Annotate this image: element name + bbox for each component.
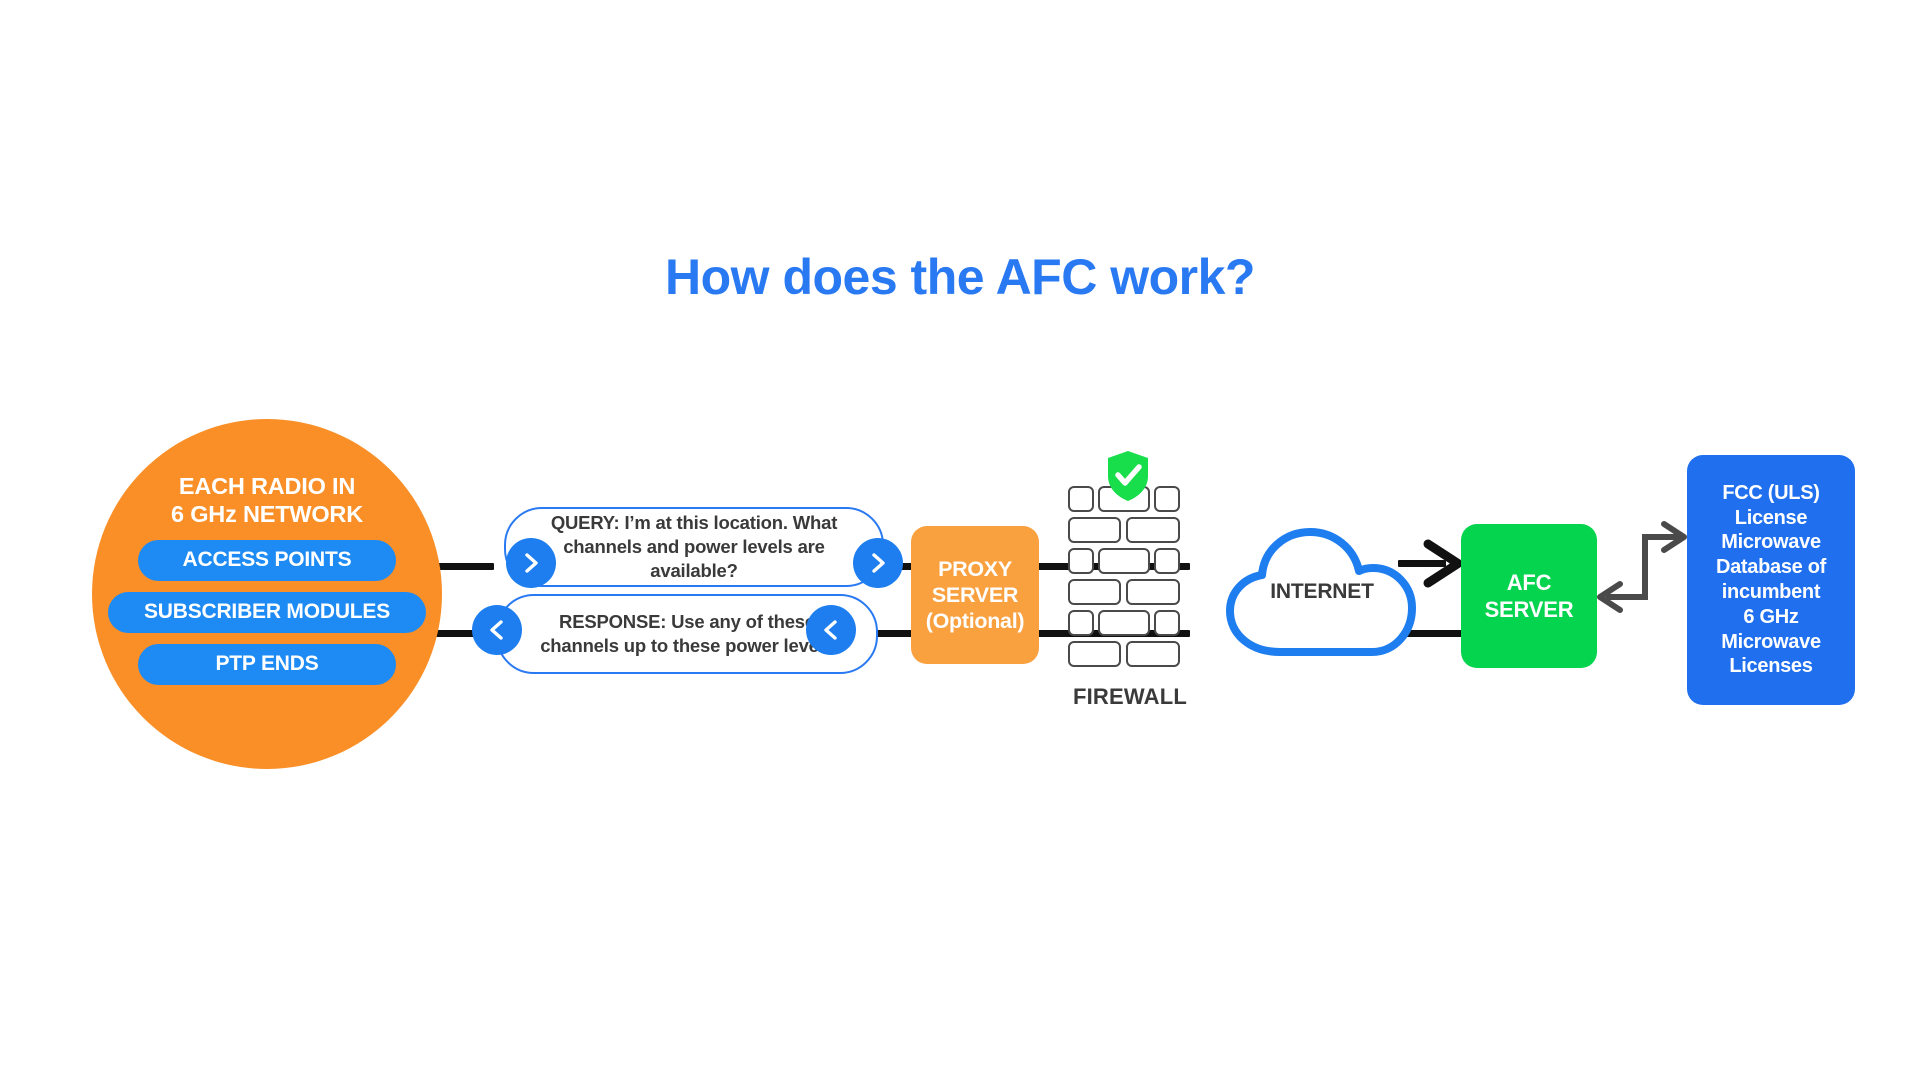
firewall-brick	[1068, 486, 1094, 512]
chevron-right-icon-query-end	[853, 538, 903, 588]
firewall-brick	[1068, 517, 1121, 543]
firewall-brick	[1068, 548, 1094, 574]
firewall-brick	[1126, 579, 1180, 605]
chevron-left-icon-response-start	[806, 605, 856, 655]
firewall-brick	[1126, 641, 1180, 667]
diagram-canvas: How does the AFC work? EACH RADIO IN 6 G…	[0, 0, 1920, 1080]
chevron-right-icon-query-start	[506, 538, 556, 588]
firewall-brick	[1068, 610, 1094, 636]
proxy-server-node[interactable]: PROXY SERVER (Optional)	[911, 526, 1039, 664]
firewall-brick	[1098, 610, 1150, 636]
firewall-brick	[1154, 548, 1180, 574]
fcc-database-node[interactable]: FCC (ULS) License Microwave Database of …	[1687, 455, 1855, 705]
firewall-brick	[1154, 486, 1180, 512]
arrowhead-to-afc-server	[1428, 544, 1458, 583]
firewall-brick	[1098, 548, 1150, 574]
firewall-brick	[1068, 641, 1121, 667]
firewall-brick	[1154, 610, 1180, 636]
firewall-brick	[1126, 517, 1180, 543]
fcc-link-lower-path	[1609, 566, 1645, 597]
firewall-brick	[1068, 579, 1121, 605]
fcc-link-upper-path	[1645, 537, 1676, 566]
shield-check-icon	[1106, 450, 1150, 502]
afc-server-node[interactable]: AFC SERVER	[1461, 524, 1597, 668]
firewall-node[interactable]	[1068, 486, 1186, 668]
query-bubble: QUERY: I’m at this location. What channe…	[504, 507, 884, 587]
internet-label: INTERNET	[1222, 580, 1422, 604]
chevron-left-icon-response-end	[472, 605, 522, 655]
